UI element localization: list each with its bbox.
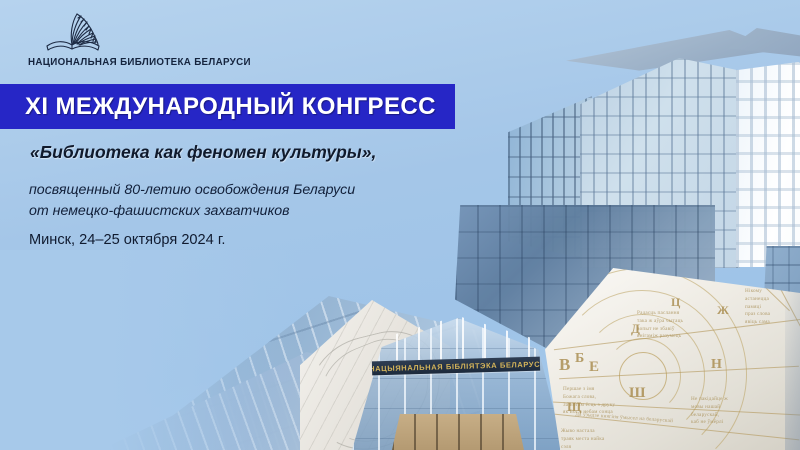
poster-canvas: НАЦЫЯНАЛЬНАЯ БІБЛІЯТЭКА БЕЛАРУСІ В Б Е Щ	[0, 0, 800, 450]
stone-glyph-9: Ж	[717, 304, 729, 316]
dedication-line-1: посвященный 80-летию освобождения Белару…	[29, 180, 355, 201]
stone-glyph-3: Е	[589, 360, 599, 375]
congress-banner: XI МЕЖДУНАРОДНЫЙ КОНГРЕСС	[0, 84, 455, 129]
tower-window-grid-right	[736, 62, 800, 267]
congress-place-date: Минск, 24–25 октября 2024 г.	[29, 232, 225, 248]
entrance-door-dividers	[392, 414, 524, 450]
dedication-line-2: от немецко-фашистских захватчиков	[29, 201, 355, 222]
stone-glyph-1: В	[559, 356, 570, 373]
stone-panel-edge-shadow	[785, 268, 800, 450]
library-logo: НАЦИОНАЛЬНАЯ БИБЛИОТЕКА БЕЛАРУСИ	[28, 10, 278, 68]
stone-glyph-8: Н	[711, 358, 722, 372]
open-book-wing-icon	[44, 10, 114, 54]
tower-facade-right	[736, 62, 800, 267]
logo-organization-name: НАЦИОНАЛЬНАЯ БИБЛИОТЕКА БЕЛАРУСИ	[28, 57, 263, 68]
stone-glyph-2: Б	[575, 352, 584, 366]
entrance-sign-text: НАЦЫЯНАЛЬНАЯ БІБЛІЯТЭКА БЕЛАРУСІ	[372, 359, 540, 373]
congress-dedication: посвященный 80-летию освобождения Белару…	[29, 180, 355, 221]
stone-glyph-7: Ц	[671, 296, 680, 308]
congress-title: XI МЕЖДУНАРОДНЫЙ КОНГРЕСС	[25, 93, 436, 121]
stone-script-4: Жыво настала траяк места найка сэля	[561, 428, 635, 450]
entrance-doors	[392, 414, 524, 450]
congress-subtitle: «Библиотека как феномен культуры»,	[30, 142, 376, 163]
stone-script-1: Радасць паслання така ж аўра чытаць вопы…	[637, 310, 699, 341]
